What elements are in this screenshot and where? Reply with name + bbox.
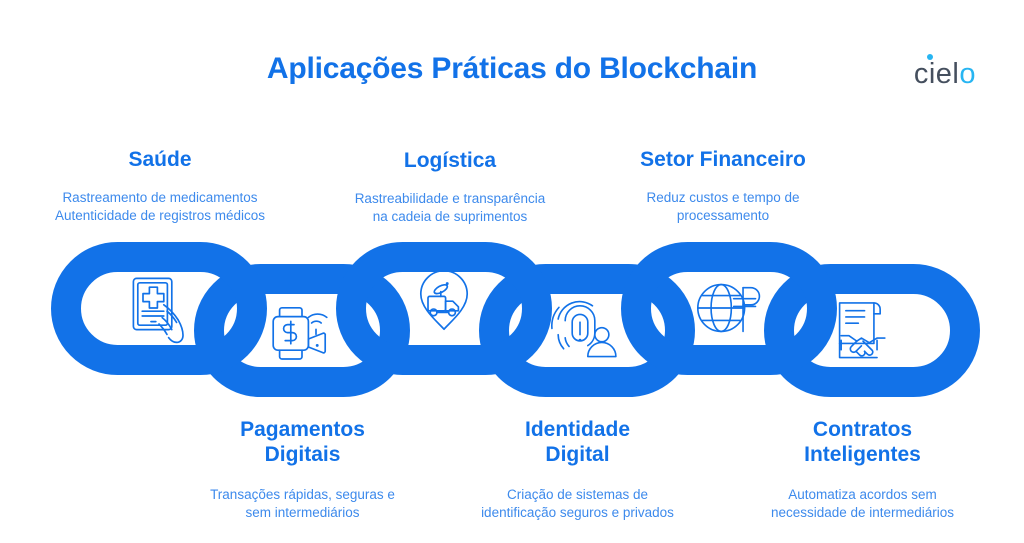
chain-link-1 xyxy=(66,257,252,360)
chain-link-4 xyxy=(494,279,680,382)
cielo-logo: ciel o xyxy=(914,60,976,89)
caption-title-setor-financeiro: Setor Financeiro xyxy=(578,148,868,173)
chain-link-6 xyxy=(779,279,965,382)
caption-desc-logistica: Rastreabilidade e transparência na cadei… xyxy=(305,190,595,226)
caption-contratos-inteligentes: Contratos Inteligentes Automatiza acordo… xyxy=(730,418,995,522)
caption-desc-setor-financeiro: Reduz custos e tempo de processamento xyxy=(578,189,868,225)
blockchain-applications-infographic: Aplicações Práticas do Blockchain ciel o xyxy=(0,0,1024,543)
chain-link-2 xyxy=(209,279,395,382)
contract-handshake-icon xyxy=(840,303,885,358)
fingerprint-user-icon xyxy=(552,302,616,357)
caption-setor-financeiro: Setor Financeiro Reduz custos e tempo de… xyxy=(578,148,868,225)
caption-title-saude: Saúde xyxy=(0,148,320,173)
caption-desc-pagamentos-digitais: Transações rápidas, seguras e sem interm… xyxy=(170,486,435,522)
caption-saude: Saúde Rastreamento de medicamentos Auten… xyxy=(0,148,320,225)
globe-currency-icon xyxy=(698,285,760,332)
page-title: Aplicações Práticas do Blockchain xyxy=(0,52,1024,86)
caption-title-identidade-digital: Identidade Digital xyxy=(445,418,710,468)
chain-link-3 xyxy=(351,257,537,360)
smartwatch-contactless-payment-icon xyxy=(273,308,327,359)
logo-tail-letter: o xyxy=(959,60,976,89)
caption-desc-contratos-inteligentes: Automatiza acordos sem necessidade de in… xyxy=(730,486,995,522)
caption-desc-saude: Rastreamento de medicamentos Autenticida… xyxy=(0,189,320,225)
caption-title-contratos-inteligentes: Contratos Inteligentes xyxy=(730,418,995,468)
caption-title-logistica: Logística xyxy=(305,149,595,174)
medical-record-tablet-icon xyxy=(133,278,183,342)
caption-desc-identidade-digital: Criação de sistemas de identificação seg… xyxy=(445,486,710,522)
caption-identidade-digital: Identidade Digital Criação de sistemas d… xyxy=(445,418,710,522)
logo-main-text: ciel xyxy=(914,60,960,89)
caption-logistica: Logística Rastreabilidade e transparênci… xyxy=(305,149,595,226)
chain-link-5 xyxy=(636,257,822,360)
caption-pagamentos-digitais: Pagamentos Digitais Transações rápidas, … xyxy=(170,418,435,522)
delivery-truck-location-pin-icon xyxy=(421,271,467,329)
caption-title-pagamentos-digitais: Pagamentos Digitais xyxy=(170,418,435,468)
